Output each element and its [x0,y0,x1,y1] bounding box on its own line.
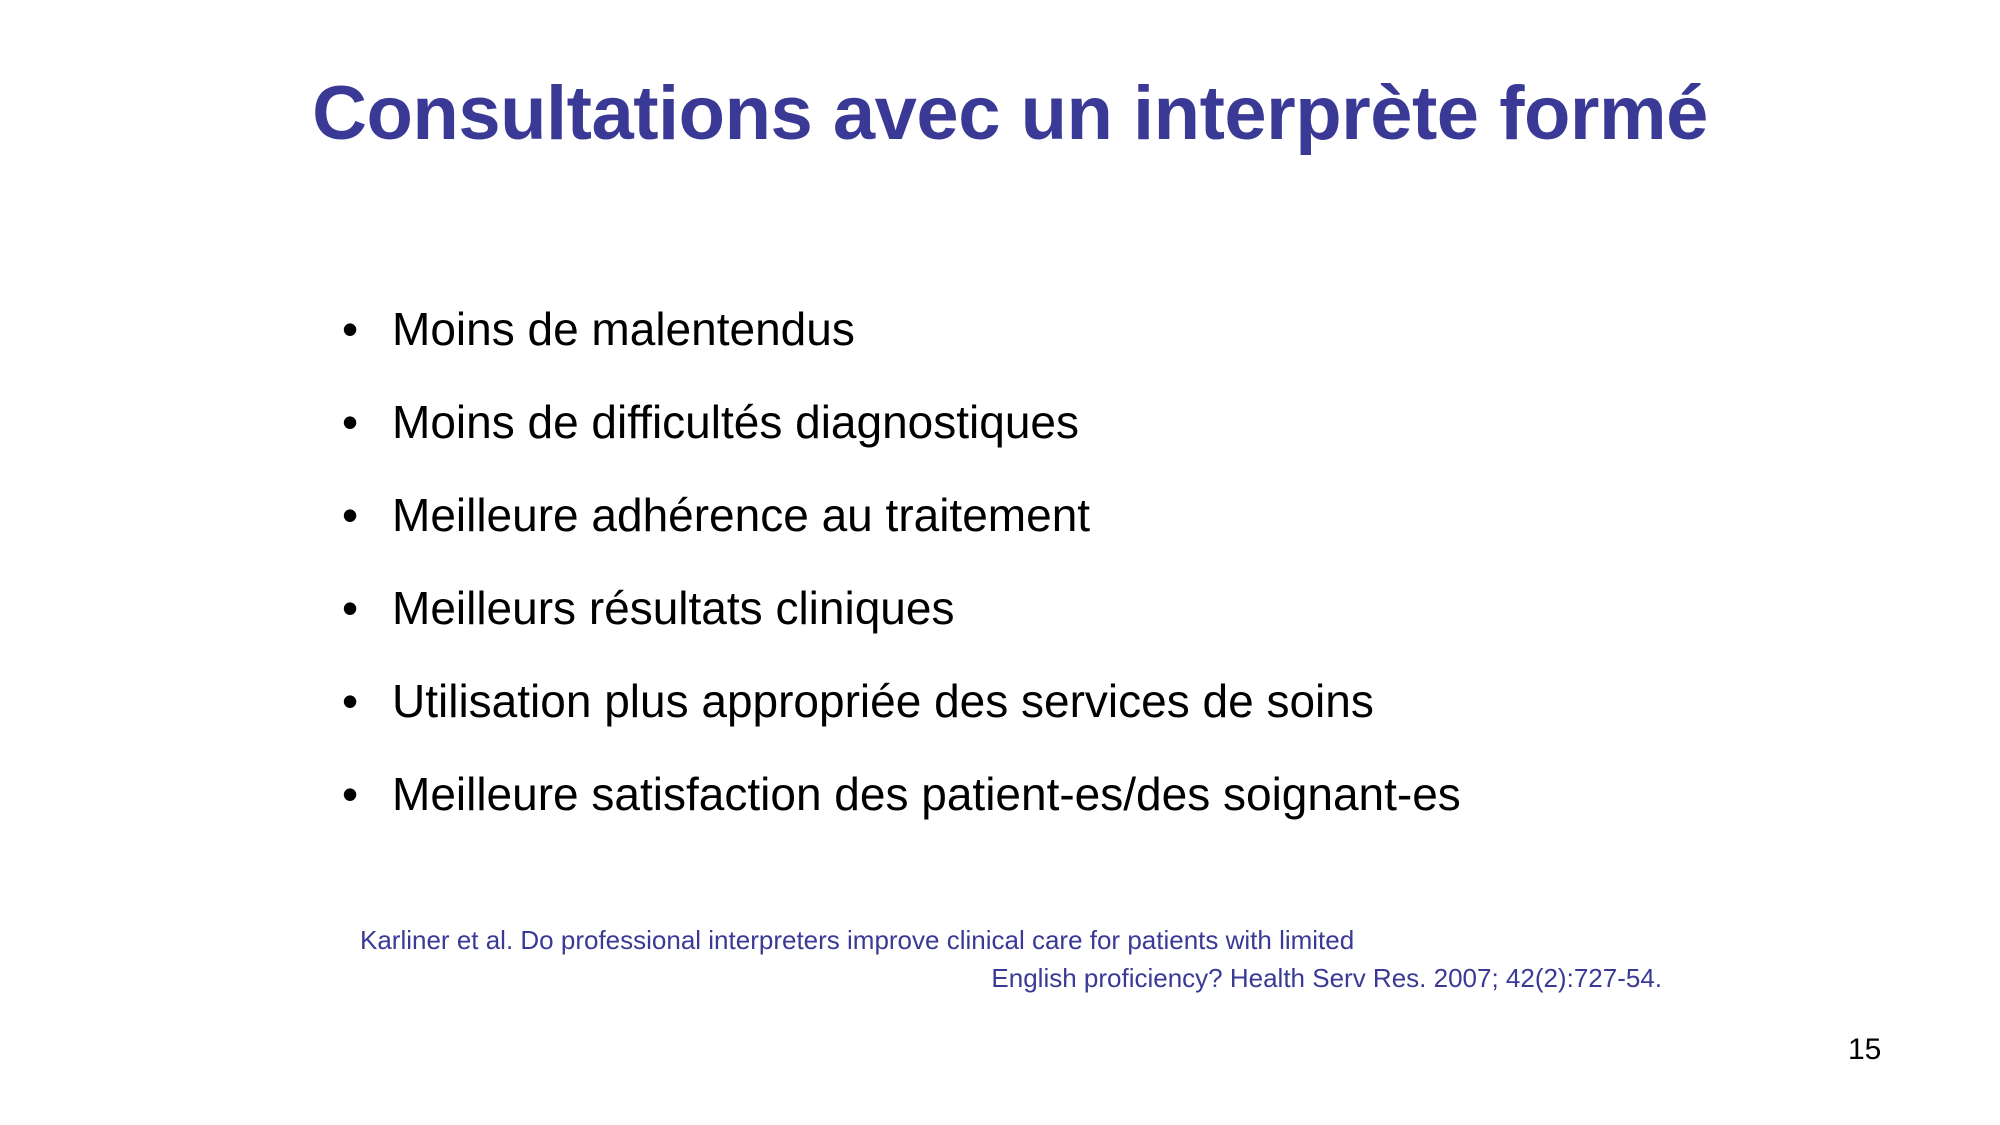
bullet-point-icon: • [338,577,392,639]
presentation-slide: Consultations avec un interprète formé •… [0,0,2000,1125]
bullet-point-icon: • [338,391,392,453]
list-item-label: Utilisation plus appropriée des services… [392,670,1374,732]
list-item-label: Moins de malentendus [392,298,855,360]
citation-line-1: Karliner et al. Do professional interpre… [360,921,1662,959]
slide-page-number: 15 [1848,1032,1918,1068]
list-item: • Moins de malentendus [338,298,1898,391]
list-item-label: Meilleure satisfaction des patient-es/de… [392,763,1461,825]
bullet-list: • Moins de malentendus • Moins de diffic… [338,298,1898,856]
bullet-point-icon: • [338,763,392,825]
bullet-point-icon: • [338,298,392,360]
bullet-point-icon: • [338,484,392,546]
bullet-point-icon: • [338,670,392,732]
citation-line-2: English proficiency? Health Serv Res. 20… [360,959,1662,997]
list-item: • Meilleurs résultats cliniques [338,577,1898,670]
citation-block: Karliner et al. Do professional interpre… [360,921,1662,997]
list-item-label: Moins de difficultés diagnostiques [392,391,1079,453]
list-item: • Meilleure adhérence au traitement [338,484,1898,577]
list-item-label: Meilleure adhérence au traitement [392,484,1090,546]
list-item-label: Meilleurs résultats cliniques [392,577,954,639]
page-title: Consultations avec un interprète formé [120,74,1900,154]
list-item: • Utilisation plus appropriée des servic… [338,670,1898,763]
list-item: • Meilleure satisfaction des patient-es/… [338,763,1898,856]
list-item: • Moins de difficultés diagnostiques [338,391,1898,484]
